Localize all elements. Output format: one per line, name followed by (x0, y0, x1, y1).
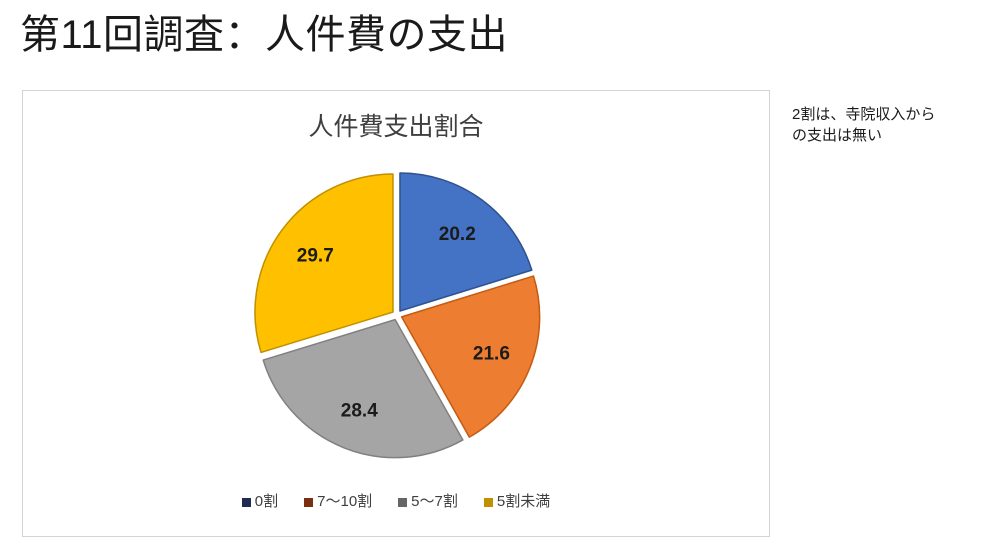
legend-item[interactable]: 7〜10割 (304, 494, 372, 510)
legend-item-label: 5割未満 (497, 494, 550, 510)
side-note: 2割は、寺院収入から の支出は無い (792, 104, 992, 146)
legend-item-label: 0割 (255, 494, 278, 510)
page-title: 第11回調査：人件費の支出 (20, 9, 508, 61)
legend-item[interactable]: 5割未満 (484, 494, 550, 510)
side-note-line-1: 2割は、寺院収入から (792, 104, 992, 125)
chart-panel: 人件費支出割合 20.221.628.429.7 0割7〜10割5〜7割5割未満 (22, 90, 770, 537)
chart-title: 人件費支出割合 (23, 111, 769, 143)
pie-chart: 20.221.628.429.7 (23, 165, 771, 465)
legend-item[interactable]: 0割 (242, 494, 278, 510)
pie-slice-value-label: 21.6 (473, 344, 510, 365)
chart-legend: 0割7〜10割5〜7割5割未満 (23, 494, 769, 510)
pie-slice-group (255, 173, 540, 458)
pie-chart-svg: 20.221.628.429.7 (187, 165, 607, 465)
side-note-line-2: の支出は無い (792, 125, 992, 146)
legend-item[interactable]: 5〜7割 (398, 494, 458, 510)
legend-swatch-icon (242, 498, 251, 507)
pie-slice-value-label: 28.4 (341, 400, 378, 421)
pie-slice-value-label: 20.2 (439, 224, 476, 245)
legend-item-label: 5〜7割 (411, 494, 458, 510)
pie-slice-value-label: 29.7 (297, 246, 334, 267)
legend-swatch-icon (484, 498, 493, 507)
legend-swatch-icon (304, 498, 313, 507)
legend-item-label: 7〜10割 (317, 494, 372, 510)
legend-swatch-icon (398, 498, 407, 507)
